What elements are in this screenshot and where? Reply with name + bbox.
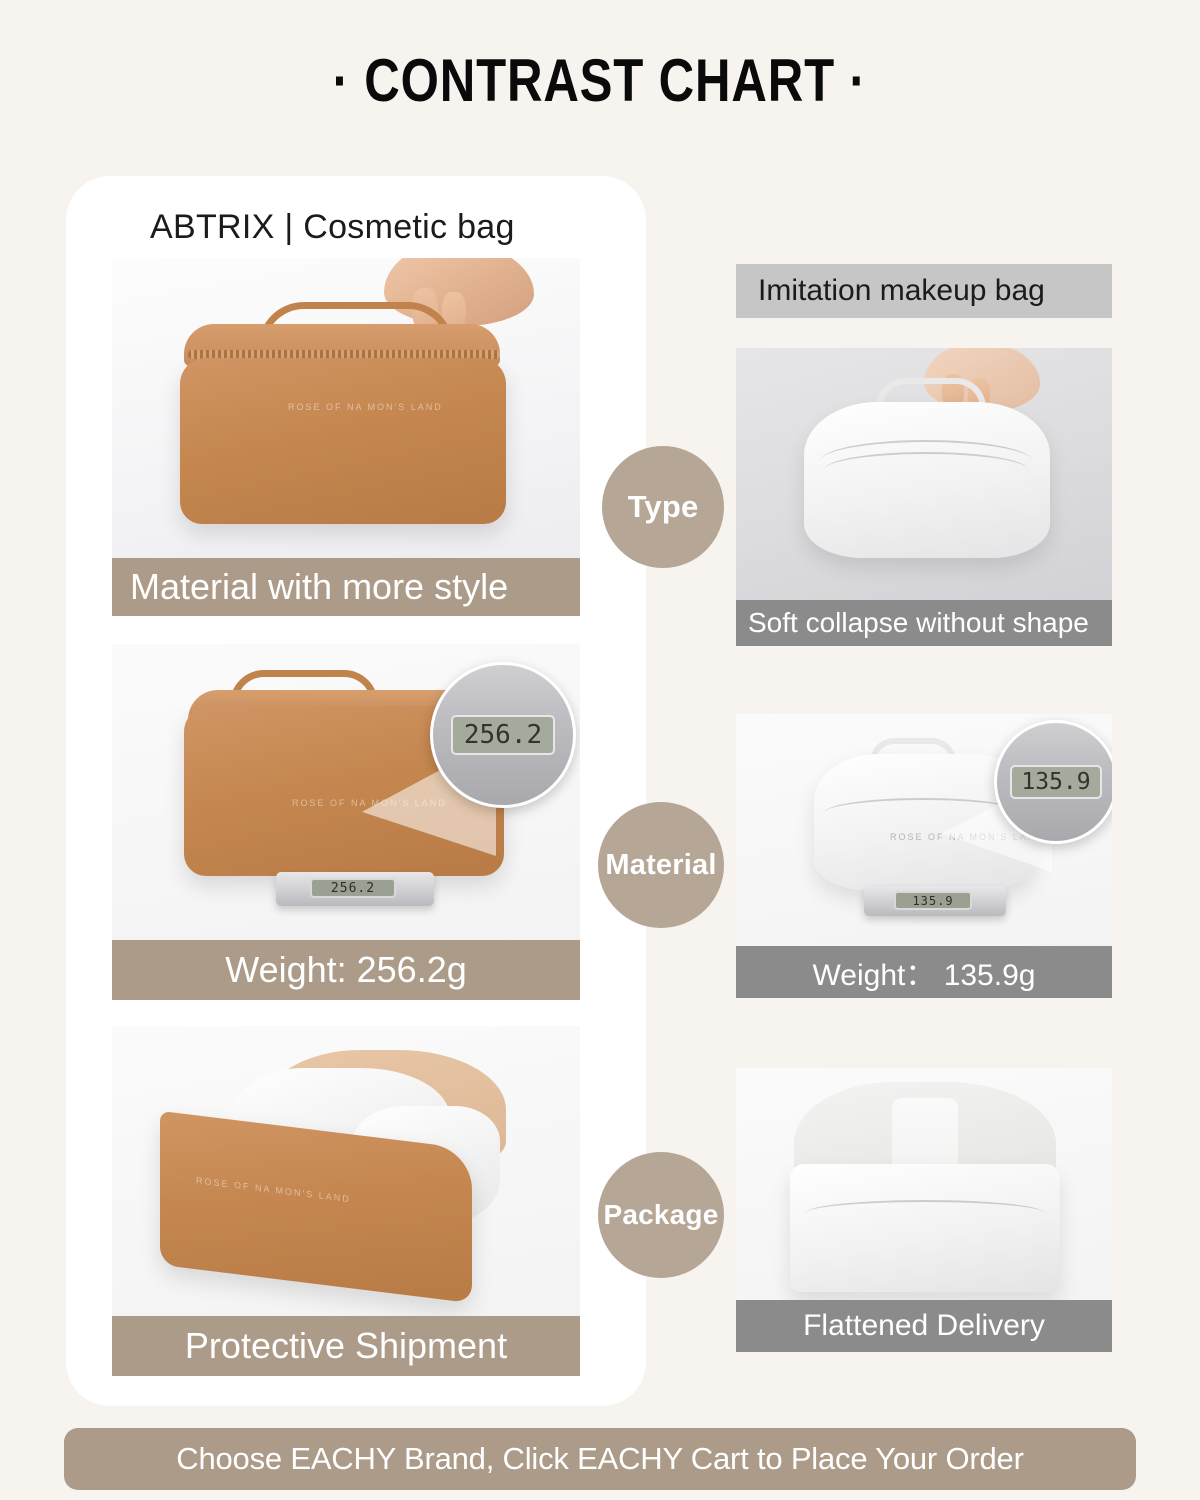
bag-seam: [824, 452, 1028, 488]
bag-emboss-text: ROSE OF NA MON'S LAND: [196, 1175, 351, 1204]
kitchen-scale: 256.2: [276, 872, 434, 906]
badge-material: Material: [598, 802, 724, 928]
badge-package: Package: [598, 1152, 724, 1278]
right-photo-material: ROSE OF NA MON'S LAND 135.9 135.9: [736, 714, 1112, 946]
page-title-container: · CONTRAST CHART ·: [0, 46, 1200, 115]
left-photo-material: ROSE OF NA MON'S LAND 256.2 256.2: [112, 644, 580, 940]
magnifier-display: 256.2: [451, 715, 555, 755]
right-caption-type: Soft collapse without shape: [736, 600, 1112, 646]
bag-body-white: [790, 1164, 1060, 1292]
left-caption-weight: Weight: 256.2g: [112, 940, 580, 1000]
scale-display: 135.9: [894, 891, 972, 910]
bag-seam: [806, 1200, 1044, 1226]
kitchen-scale: 135.9: [864, 886, 1006, 916]
cta-banner[interactable]: Choose EACHY Brand, Click EACHY Cart to …: [64, 1428, 1136, 1490]
left-caption-package: Protective Shipment: [112, 1316, 580, 1376]
brand-header: ABTRIX | Cosmetic bag: [150, 208, 515, 247]
magnifier-display: 135.9: [1010, 765, 1102, 799]
left-photo-type: ROSE OF NA MON'S LAND: [112, 258, 580, 558]
bag-body-tan: ROSE OF NA MON'S LAND: [180, 358, 506, 524]
scale-display: 256.2: [310, 878, 396, 898]
left-caption-type: Material with more style: [112, 558, 580, 616]
right-photo-type: [736, 348, 1112, 600]
right-caption-package: Flattened Delivery: [736, 1300, 1112, 1352]
rival-header: Imitation makeup bag: [736, 264, 1112, 318]
right-caption-weight: Weight： 135.9g: [736, 946, 1112, 998]
magnifier-right: 135.9: [994, 720, 1112, 844]
badge-type: Type: [602, 446, 724, 568]
bag-emboss-text: ROSE OF NA MON'S LAND: [288, 402, 443, 412]
page-title: · CONTRAST CHART ·: [333, 46, 867, 115]
right-photo-package: [736, 1068, 1112, 1300]
left-photo-package: ROSE OF NA MON'S LAND: [112, 1026, 580, 1316]
magnifier-left: 256.2: [430, 662, 576, 808]
